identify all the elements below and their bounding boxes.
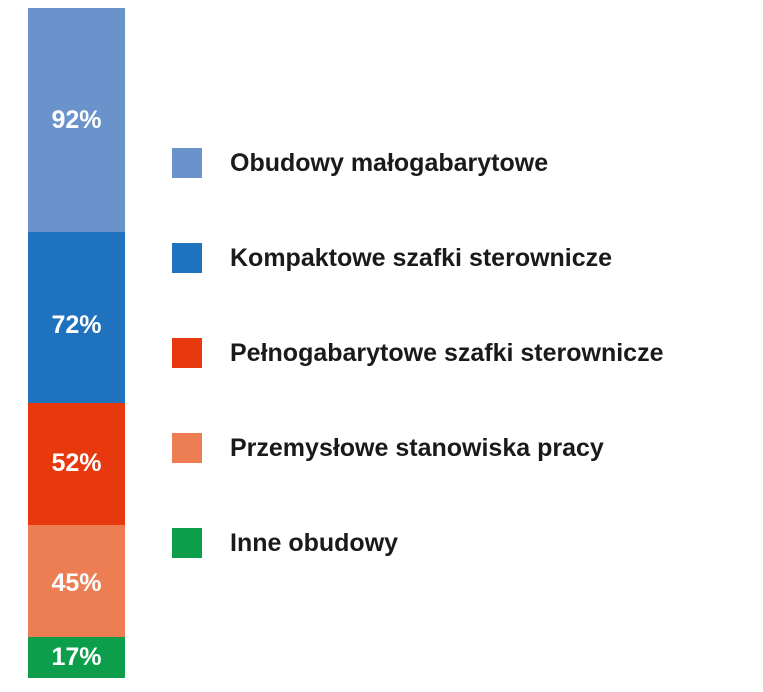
bar-segment-value-label: 92% bbox=[51, 108, 101, 133]
legend-color-swatch bbox=[172, 243, 202, 273]
bar-segment: 72% bbox=[28, 232, 125, 403]
legend-item-label: Obudowy małogabarytowe bbox=[230, 148, 548, 178]
legend-item: Inne obudowy bbox=[172, 528, 752, 623]
bar-segment-value-label: 17% bbox=[51, 645, 101, 670]
bar-segment: 45% bbox=[28, 525, 125, 637]
bar-segment-value-label: 72% bbox=[51, 313, 101, 338]
legend-item-label: Kompaktowe szafki sterownicze bbox=[230, 243, 612, 273]
stacked-bar-chart: 92% 72% 52% 45% 17% Obudowy małogabaryto… bbox=[0, 0, 763, 692]
legend-item: Obudowy małogabarytowe bbox=[172, 148, 752, 243]
legend-color-swatch bbox=[172, 528, 202, 558]
legend-item: Pełnogabarytowe szafki sterownicze bbox=[172, 338, 752, 433]
bar-segment: 92% bbox=[28, 8, 125, 232]
legend-item-label: Inne obudowy bbox=[230, 528, 398, 558]
legend-color-swatch bbox=[172, 338, 202, 368]
legend-item: Przemysłowe stanowiska pracy bbox=[172, 433, 752, 528]
stacked-bar-column: 92% 72% 52% 45% 17% bbox=[28, 8, 125, 678]
bar-segment: 17% bbox=[28, 637, 125, 678]
bar-segment-value-label: 45% bbox=[51, 571, 101, 596]
bar-segment: 52% bbox=[28, 403, 125, 525]
legend-item-label: Pełnogabarytowe szafki sterownicze bbox=[230, 338, 663, 368]
legend-item: Kompaktowe szafki sterownicze bbox=[172, 243, 752, 338]
legend-color-swatch bbox=[172, 433, 202, 463]
chart-legend: Obudowy małogabarytowe Kompaktowe szafki… bbox=[172, 148, 752, 623]
legend-color-swatch bbox=[172, 148, 202, 178]
bar-segment-value-label: 52% bbox=[51, 451, 101, 476]
legend-item-label: Przemysłowe stanowiska pracy bbox=[230, 433, 604, 463]
